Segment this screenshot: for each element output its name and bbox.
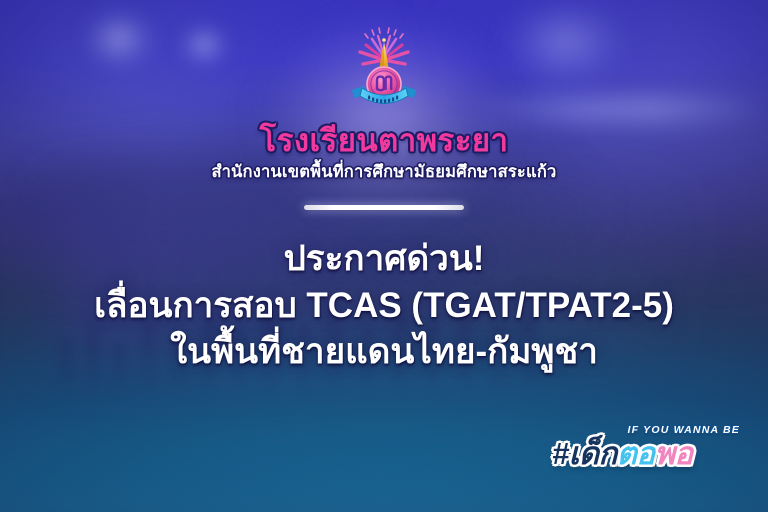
headline-line-1: ประกาศด่วน! [0, 238, 768, 281]
campaign-wordmark: #เด็กตอพอ [552, 438, 693, 469]
headline-line-3: ในพื้นที่ชายแดนไทย-กัมพูชา [0, 331, 768, 374]
section-divider [304, 205, 464, 210]
school-identity: โรงเรียนตาพระยา สำนักงานเขตพื้นที่การศึก… [0, 125, 768, 181]
school-office-name: สำนักงานเขตพื้นที่การศึกษามัธยมศึกษาสระแ… [0, 163, 768, 181]
campaign-part1: เด็ก [569, 436, 617, 471]
school-name: โรงเรียนตาพระยา [0, 125, 768, 158]
campaign-part2: ตอ [617, 436, 655, 471]
headline-line-2: เลื่อนการสอบ TCAS (TGAT/TPAT2-5) [0, 285, 768, 328]
school-crest-icon [336, 26, 432, 122]
campaign-logo: IF YOU WANNA BE #เด็กตอพอ [552, 424, 746, 482]
campaign-hash: # [552, 436, 569, 471]
announcement-poster: โรงเรียนตาพระยา สำนักงานเขตพื้นที่การศึก… [0, 0, 768, 512]
announcement-headline: ประกาศด่วน! เลื่อนการสอบ TCAS (TGAT/TPAT… [0, 238, 768, 374]
campaign-tagline: IF YOU WANNA BE [627, 424, 740, 436]
campaign-part3: พอ [655, 436, 693, 471]
